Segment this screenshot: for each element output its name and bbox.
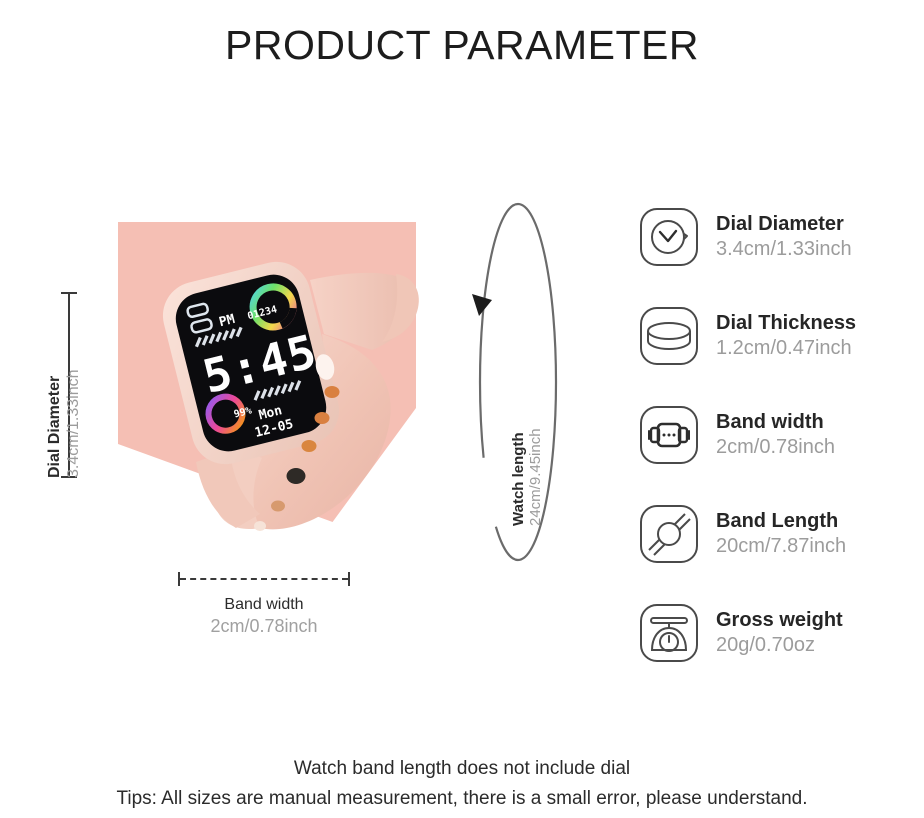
dimension-cap-right — [348, 572, 350, 586]
spec-value: 20g/0.70oz — [716, 633, 924, 657]
band-width-dimension: Band width 2cm/0.78inch — [176, 572, 352, 637]
band-length-icon — [638, 503, 700, 565]
spec-value: 2cm/0.78inch — [716, 435, 924, 459]
spec-value: 20cm/7.87inch — [716, 534, 924, 558]
band-width-value: 2cm/0.78inch — [176, 616, 352, 637]
watch-illustration: PM 01234 5:45 99% Mo — [110, 214, 440, 566]
spec-text: Gross weight 20g/0.70oz — [716, 609, 924, 657]
spec-text: Band width 2cm/0.78inch — [716, 411, 924, 459]
page-title: PRODUCT PARAMETER — [0, 22, 924, 69]
spec-value: 3.4cm/1.33inch — [716, 237, 924, 261]
watch-length-dimension: Watch length 24cm/9.45inch — [462, 196, 574, 568]
spec-text: Dial Diameter 3.4cm/1.33inch — [716, 213, 924, 261]
dial-diameter-value: 3.4cm/1.33inch — [65, 369, 84, 478]
watch-length-label-group: Watch length 24cm/9.45inch — [510, 428, 544, 526]
footer-note-primary: Watch band length does not include dial — [0, 758, 924, 780]
spec-row-dial-diameter: Dial Diameter 3.4cm/1.33inch — [638, 196, 924, 278]
dial-diameter-label-group: Dial Diameter 3.4cm/1.33inch — [46, 369, 84, 478]
spec-row-dial-thickness: Dial Thickness 1.2cm/0.47inch — [638, 295, 924, 377]
band-width-label: Band width — [176, 596, 352, 614]
spec-label: Dial Diameter — [716, 213, 924, 237]
spec-label: Band width — [716, 411, 924, 435]
strap-hole — [271, 501, 285, 512]
dashed-line — [180, 578, 348, 580]
strap-hole — [302, 440, 317, 452]
dial-diameter-dimension: Dial Diameter 3.4cm/1.33inch — [0, 284, 80, 488]
product-photo: PM 01234 5:45 99% Mo — [110, 214, 440, 566]
spec-label: Gross weight — [716, 609, 924, 633]
watch-length-label: Watch length — [510, 428, 527, 526]
band-buckle-icon — [638, 404, 700, 466]
band-width-dimension-line — [176, 572, 352, 586]
watch-dial-icon — [638, 206, 700, 268]
strap-hole — [315, 412, 330, 424]
spec-list: Dial Diameter 3.4cm/1.33inch Dial Thickn… — [638, 196, 924, 691]
spec-value: 1.2cm/0.47inch — [716, 336, 924, 360]
footer: Watch band length does not include dial … — [0, 758, 924, 810]
spec-label: Dial Thickness — [716, 312, 924, 336]
spec-text: Band Length 20cm/7.87inch — [716, 510, 924, 558]
dimension-cap-top — [61, 292, 77, 294]
strap-hole-light — [254, 521, 266, 531]
cylinder-thickness-icon — [638, 305, 700, 367]
kitchen-scale-icon — [638, 602, 700, 664]
spec-label: Band Length — [716, 510, 924, 534]
footer-note-tips: Tips: All sizes are manual measurement, … — [0, 788, 924, 810]
spec-row-band-width: Band width 2cm/0.78inch — [638, 394, 924, 476]
spec-row-band-length: Band Length 20cm/7.87inch — [638, 493, 924, 575]
strap-hole — [325, 386, 340, 398]
strap-hole-dark — [287, 468, 306, 484]
spec-row-gross-weight: Gross weight 20g/0.70oz — [638, 592, 924, 674]
spec-text: Dial Thickness 1.2cm/0.47inch — [716, 312, 924, 360]
watch-length-value: 24cm/9.45inch — [527, 428, 544, 526]
dial-diameter-label: Dial Diameter — [46, 369, 65, 478]
